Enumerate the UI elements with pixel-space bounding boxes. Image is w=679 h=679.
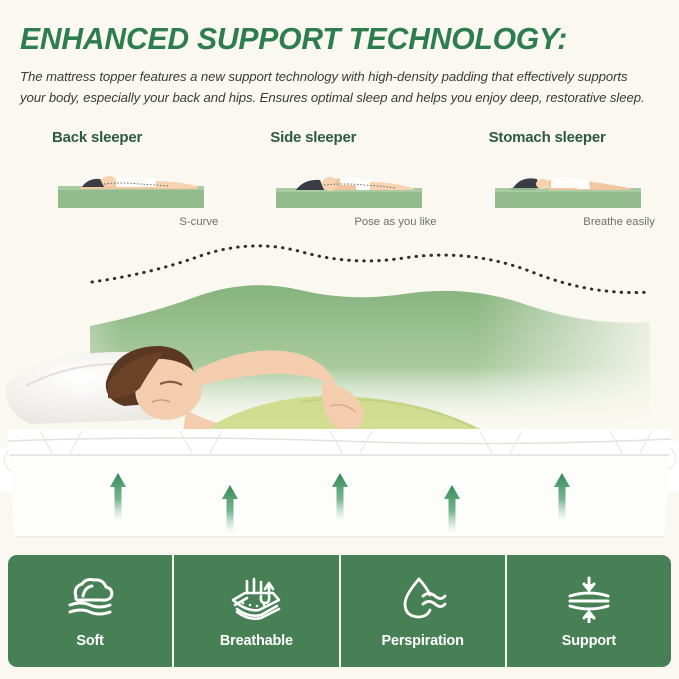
sleeper-card-side: Side sleeper Pose as you like: [230, 129, 448, 228]
product-infographic: ENHANCED SUPPORT TECHNOLOGY: The mattres…: [0, 0, 679, 679]
feature-bar: Soft Breath: [8, 555, 671, 667]
side-sleeper-illustration: [270, 158, 428, 210]
sleeper-positions-row: Back sleeper S-curve: [0, 129, 679, 228]
compression-arrows-icon: [563, 574, 615, 624]
back-sleeper-illustration: [52, 158, 210, 210]
feature-tile-perspiration[interactable]: Perspiration: [341, 555, 507, 667]
sleeper-title: Back sleeper: [52, 129, 230, 146]
mattress-base-with-arrows: [0, 429, 679, 545]
sleeper-title: Stomach sleeper: [489, 129, 667, 146]
sleeper-title: Side sleeper: [270, 129, 448, 146]
water-droplet-icon: [397, 574, 449, 624]
sleeper-caption: S-curve: [12, 216, 230, 228]
header-description: The mattress topper features a new suppo…: [20, 66, 645, 109]
feature-label: Breathable: [220, 633, 293, 649]
stomach-sleeper-illustration: [489, 158, 647, 210]
sleeper-card-stomach: Stomach sleeper Breathe easily: [449, 129, 667, 228]
sleeper-caption: Pose as you like: [230, 216, 448, 228]
sleeper-card-back: Back sleeper S-curve: [12, 129, 230, 228]
feature-tile-support[interactable]: Support: [507, 555, 671, 667]
page-title: ENHANCED SUPPORT TECHNOLOGY:: [20, 22, 640, 56]
sleeper-caption: Breathe easily: [449, 216, 667, 228]
feature-label: Perspiration: [382, 633, 464, 649]
fabric-airflow-icon: [227, 574, 285, 624]
feature-label: Soft: [76, 633, 103, 649]
feature-tile-soft[interactable]: Soft: [8, 555, 174, 667]
feature-tile-breathable[interactable]: Breathable: [174, 555, 340, 667]
cloud-waves-icon: [63, 574, 117, 624]
feature-label: Support: [562, 633, 616, 649]
header-section: ENHANCED SUPPORT TECHNOLOGY: The mattres…: [0, 0, 679, 109]
